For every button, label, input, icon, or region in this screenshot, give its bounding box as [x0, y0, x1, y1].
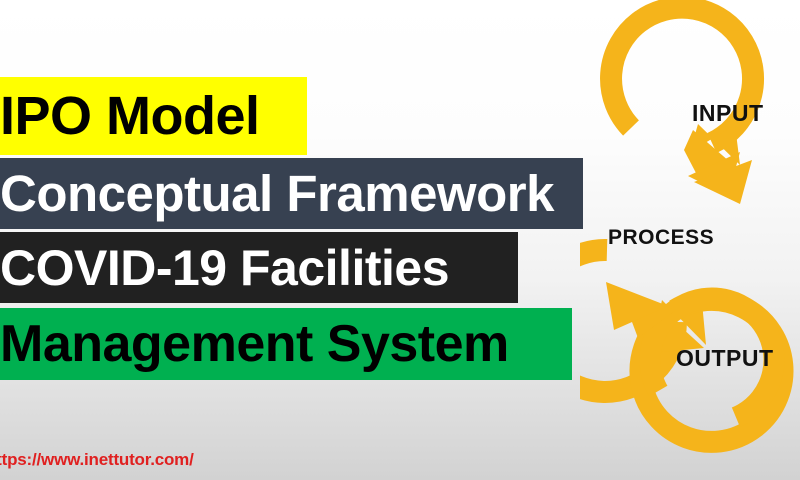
title-text-covid-19-facilities: COVID-19 Facilities [0, 243, 449, 293]
diagram-label-output: OUTPUT [676, 345, 774, 372]
input-circular-arrow [611, 8, 753, 173]
diagram-label-process: PROCESS [608, 226, 714, 250]
title-bar-management-system: Management System [0, 308, 572, 380]
title-text-conceptual-framework: Conceptual Framework [0, 168, 554, 219]
title-bar-conceptual-framework: Conceptual Framework [0, 158, 583, 229]
title-bar-covid-19-facilities: COVID-19 Facilities [0, 232, 518, 303]
slide-canvas: IPO Model Conceptual Framework COVID-19 … [0, 0, 800, 480]
ipo-cycle-diagram: INPUT PROCESS OUTPUT [580, 0, 800, 480]
title-text-ipo-model: IPO Model [0, 89, 260, 143]
title-text-management-system: Management System [0, 318, 509, 370]
footer-website-url: https://www.inettutor.com/ [0, 450, 194, 470]
title-bar-ipo-model: IPO Model [0, 77, 307, 155]
diagram-label-input: INPUT [692, 100, 764, 127]
